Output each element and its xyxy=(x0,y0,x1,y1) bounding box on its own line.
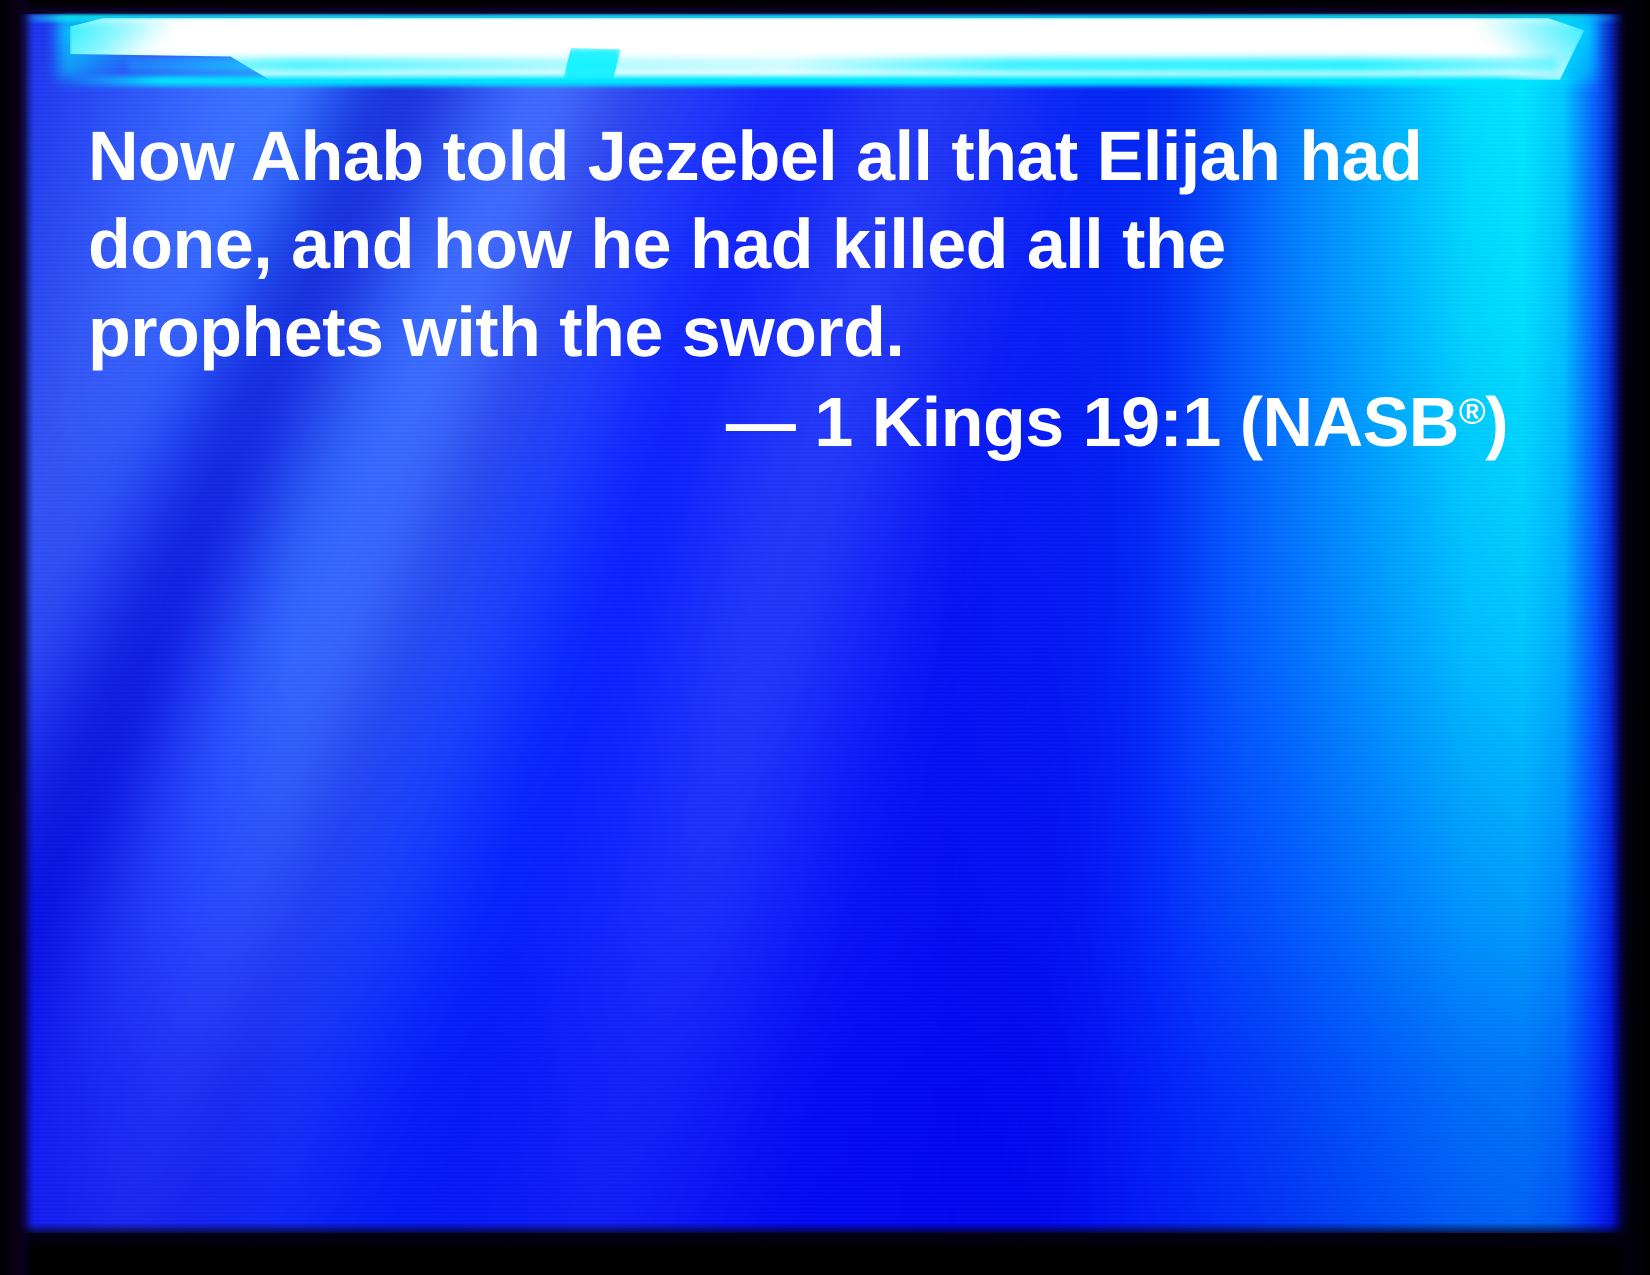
verse-line-3: prophets with the sword. xyxy=(88,288,1508,376)
attribution-closing-paren: ) xyxy=(1485,383,1508,461)
verse-line-1: Now Ahab told Jezebel all that Elijah ha… xyxy=(88,112,1508,200)
registered-trademark-icon: ® xyxy=(1459,390,1485,431)
attribution-em-dash: — xyxy=(726,383,814,461)
verse-slide: Now Ahab told Jezebel all that Elijah ha… xyxy=(0,0,1650,1275)
attribution-reference: 1 Kings 19:1 (NASB xyxy=(814,383,1458,461)
verse-attribution: — 1 Kings 19:1 (NASB®) xyxy=(88,378,1516,466)
verse-line-2: done, and how he had killed all the xyxy=(88,200,1508,288)
verse-text-block: Now Ahab told Jezebel all that Elijah ha… xyxy=(88,112,1508,376)
